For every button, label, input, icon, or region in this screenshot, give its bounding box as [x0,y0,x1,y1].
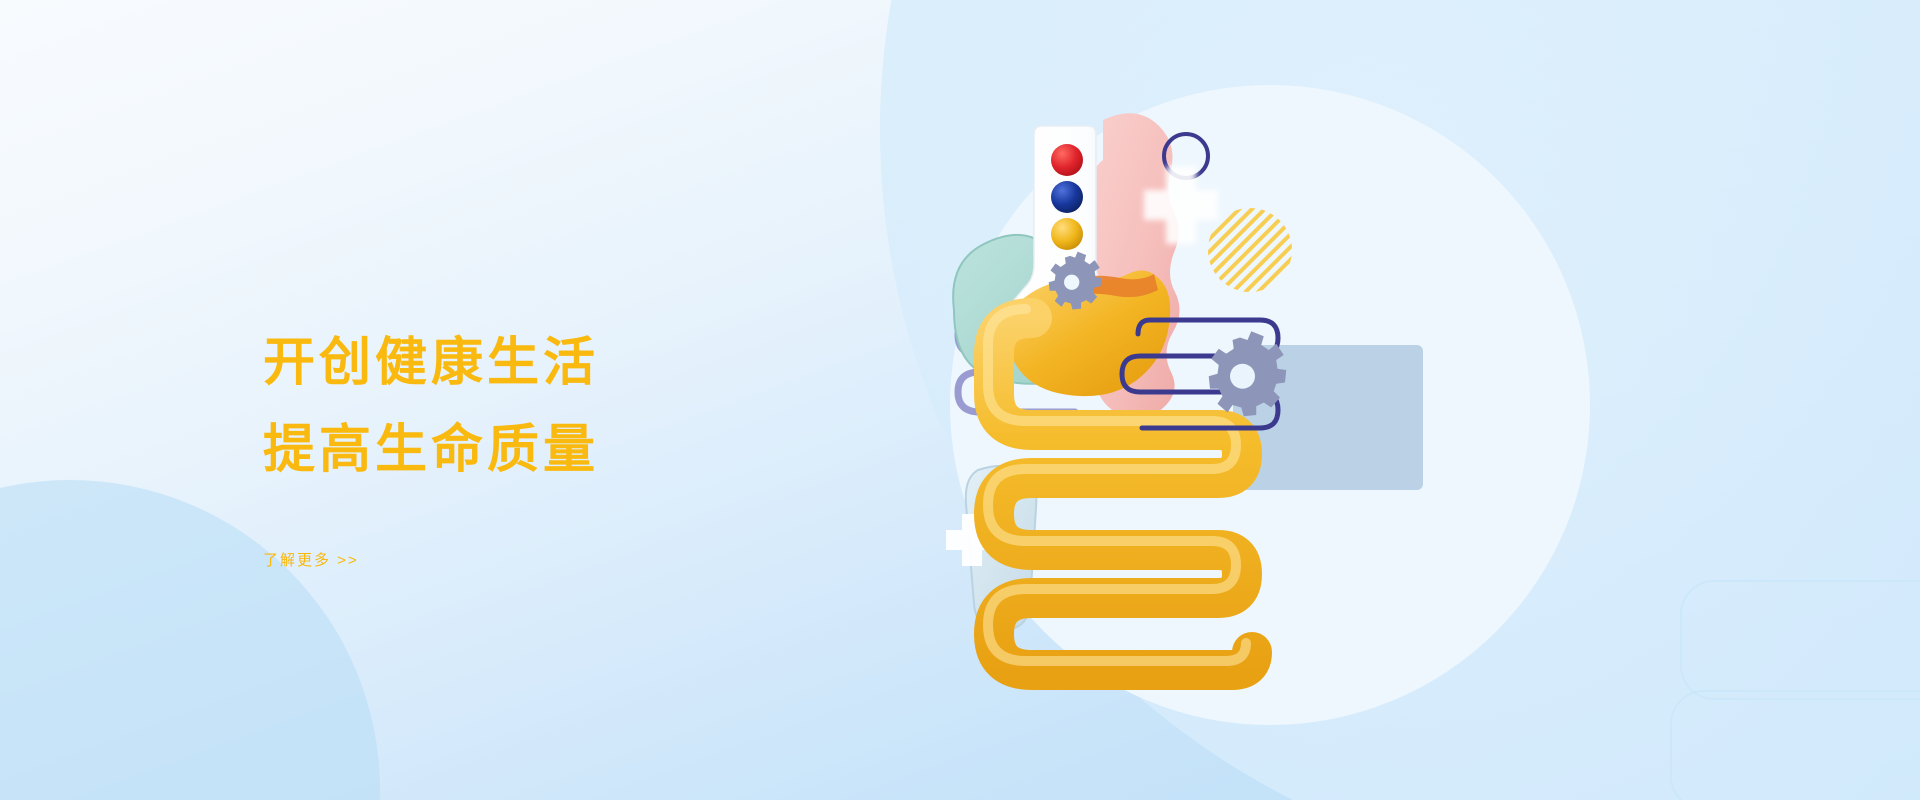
background-rounded-rect-2 [1670,690,1920,800]
sample-dot-yellow [1051,218,1083,250]
hero-banner: 开创健康生活 提高生命质量 了解更多 >> [0,0,1920,800]
headline-line-1: 开创健康生活 [263,320,883,407]
learn-more-link[interactable]: 了解更多 >> [263,549,359,570]
background-rounded-rect-1 [1680,580,1920,700]
yellow-striped-circle [1208,208,1292,292]
headline-line-2: 提高生命质量 [263,407,883,494]
hero-copy-block: 开创健康生活 提高生命质量 了解更多 >> [263,320,883,570]
gear-large [1209,331,1287,416]
hero-illustration [940,60,1640,760]
sample-dot-red [1051,144,1083,176]
illustration-svg [940,60,1640,760]
sample-dot-navy [1051,181,1083,213]
